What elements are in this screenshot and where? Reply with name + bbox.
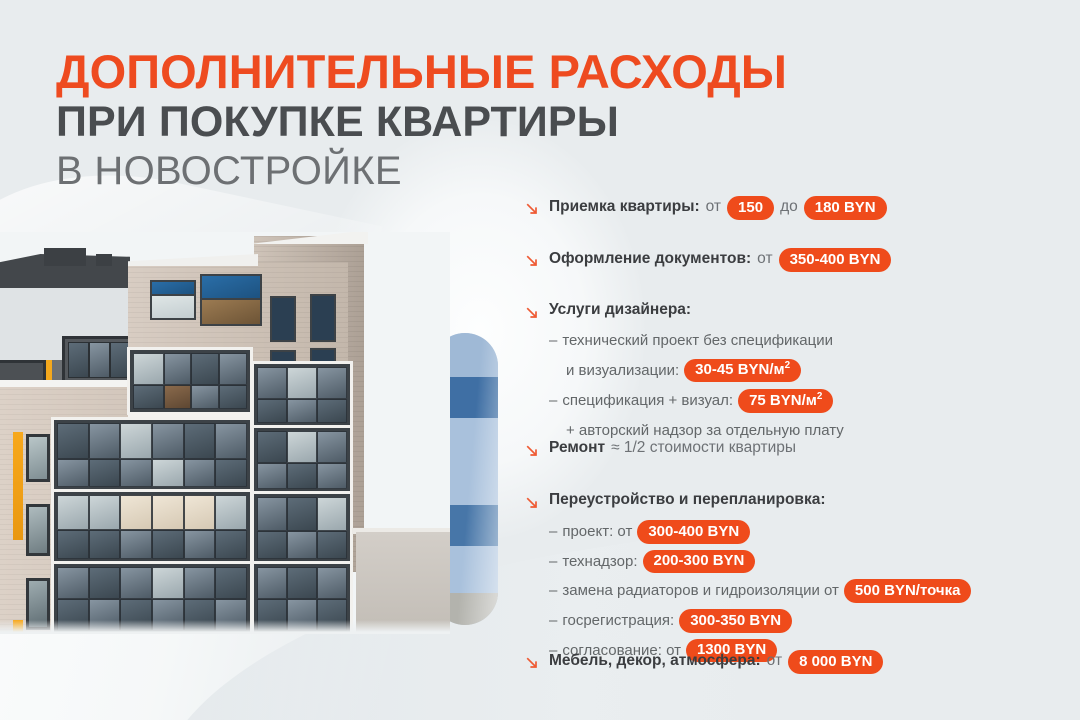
price-badge: 300-350 BYN [679, 609, 792, 633]
item-label: Ремонт [549, 438, 605, 459]
sub-item: – проект: от 300-400 BYN [549, 520, 971, 544]
sub-dash: – [549, 610, 557, 632]
sub-item: – госрегистрация: 300-350 BYN [549, 609, 971, 633]
sub-item: – технадзор: 200-300 BYN [549, 550, 971, 574]
sub-text: проект: от [562, 521, 632, 543]
sub-item: – замена радиаторов и гидроизоляции от 5… [549, 579, 971, 603]
price-badge-max: 180 BYN [804, 196, 887, 220]
item-connector: до [780, 197, 798, 218]
sub-dash: – [549, 390, 557, 412]
arrow-down-right-icon [524, 253, 540, 269]
price-badge: 30-45 BYN/м2 [684, 359, 801, 383]
sub-item: и визуализации: 30-45 BYN/м2 [566, 359, 844, 383]
item-prefix: от [757, 249, 772, 270]
arrow-down-right-icon [524, 655, 540, 671]
infographic-canvas: ДОПОЛНИТЕЛЬНЫЕ РАСХОДЫ ПРИ ПОКУПКЕ КВАРТ… [0, 0, 1080, 720]
list-item-reconstruction: Переустройство и перепланировка: – проек… [524, 490, 971, 662]
sub-text: и визуализации: [566, 360, 679, 382]
page-title: ДОПОЛНИТЕЛЬНЫЕ РАСХОДЫ ПРИ ПОКУПКЕ КВАРТ… [56, 48, 816, 192]
arrow-down-right-icon [524, 443, 540, 459]
sub-text: технадзор: [562, 551, 637, 573]
headline-line-1: ДОПОЛНИТЕЛЬНЫЕ РАСХОДЫ [56, 48, 816, 96]
item-label: Переустройство и перепланировка: [549, 490, 826, 511]
list-item-designer-services: Услуги дизайнера: – технический проект б… [524, 300, 844, 442]
item-label: Услуги дизайнера: [549, 300, 691, 321]
item-label: Оформление документов: [549, 249, 751, 270]
price-badge: 75 BYN/м2 [738, 389, 833, 413]
list-item-renovation: Ремонт ≈ 1/2 стоимости квартиры [524, 438, 796, 459]
arrow-down-right-icon [524, 305, 540, 321]
list-item-furniture: Мебель, декор, атмосфера: от 8 000 BYN [524, 650, 883, 674]
arrow-down-right-icon [524, 201, 540, 217]
sub-item: – технический проект без спецификации [549, 330, 844, 352]
list-item-acceptance: Приемка квартиры: от 150 до 180 BYN [524, 196, 887, 220]
headline-line-2: ПРИ ПОКУПКЕ КВАРТИРЫ [56, 101, 816, 145]
sub-text: технический проект без спецификации [562, 330, 833, 352]
item-prefix: от [706, 197, 721, 218]
sub-item: – спецификация + визуал: 75 BYN/м2 [549, 389, 844, 413]
sub-dash: – [549, 521, 557, 543]
item-tail: ≈ 1/2 стоимости квартиры [611, 438, 796, 459]
item-label: Мебель, декор, атмосфера: [549, 651, 761, 672]
item-label: Приемка квартиры: [549, 197, 700, 218]
sub-dash: – [549, 330, 557, 352]
price-badge: 300-400 BYN [637, 520, 750, 544]
price-badge: 350-400 BYN [779, 248, 892, 272]
price-badge: 150 [727, 196, 774, 220]
price-badge: 500 BYN/точка [844, 579, 972, 603]
list-item-documents: Оформление документов: от 350-400 BYN [524, 248, 891, 272]
arrow-down-right-icon [524, 495, 540, 511]
sub-text: госрегистрация: [562, 610, 674, 632]
sub-dash: – [549, 580, 557, 602]
headline-line-3: В НОВОСТРОЙКЕ [56, 151, 816, 192]
price-badge: 8 000 BYN [788, 650, 883, 674]
sub-dash: – [549, 551, 557, 573]
item-prefix: от [767, 651, 782, 672]
price-badge: 200-300 BYN [643, 550, 756, 574]
apartment-building-photo [0, 232, 450, 634]
sub-text: замена радиаторов и гидроизоляции от [562, 580, 839, 602]
sub-text: спецификация + визуал: [562, 390, 733, 412]
